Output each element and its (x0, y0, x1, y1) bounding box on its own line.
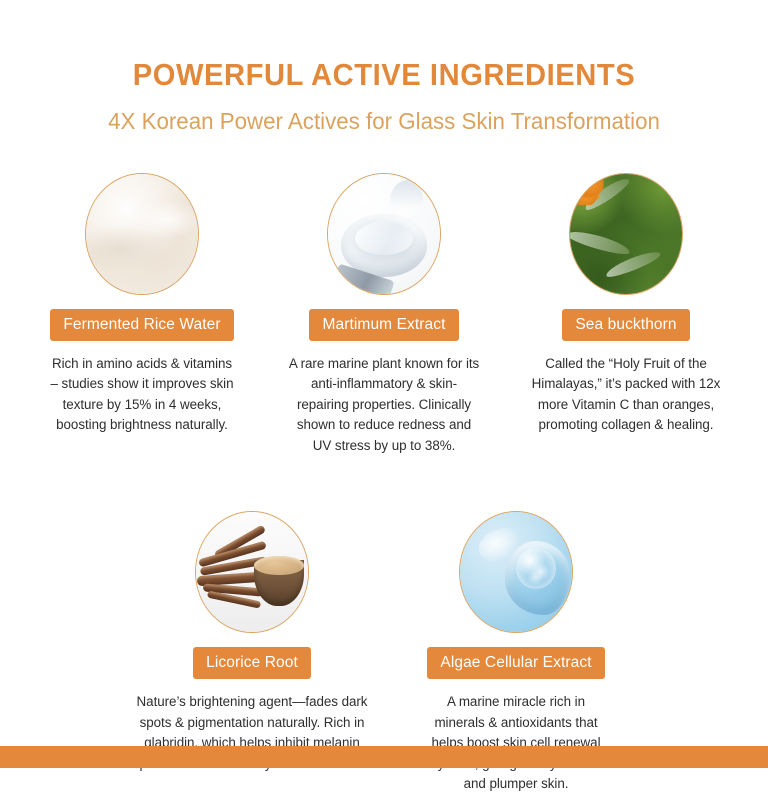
rice-water-texture-icon (86, 174, 198, 294)
leaf-icon (582, 175, 631, 214)
sea-buckthorn-berries-icon (570, 174, 682, 294)
ingredient-description-sea-buckthorn: Called the “Holy Fruit of the Himalayas,… (530, 354, 722, 436)
page-subtitle: 4X Korean Power Actives for Glass Skin T… (12, 108, 757, 134)
footer-accent-bar (0, 746, 768, 768)
leaf-icon (603, 247, 661, 280)
leaf-icon (569, 227, 631, 258)
header: POWERFUL ACTIVE INGREDIENTS 4X Korean Po… (0, 0, 768, 135)
ingredient-badge-fermented-rice-water: Fermented Rice Water (50, 309, 233, 342)
ingredient-image-sea-buckthorn (569, 173, 683, 295)
highlight-icon (474, 521, 527, 567)
ingredient-image-fermented-rice-water (85, 173, 199, 295)
ingredient-badge-sea-buckthorn: Sea buckthorn (562, 309, 689, 342)
gel-serum-icon (328, 174, 440, 294)
infographic-page: POWERFUL ACTIVE INGREDIENTS 4X Korean Po… (0, 0, 768, 768)
ingredient-description-martimum-extract: A rare marine plant known for its anti-i… (286, 354, 482, 456)
ingredient-card-sea-buckthorn: Sea buckthorn Called the “Holy Fruit of … (518, 173, 734, 436)
ingredient-description-fermented-rice-water: Rich in amino acids & vitamins – studies… (47, 354, 237, 436)
ingredient-image-martimum-extract (327, 173, 441, 295)
metal-spatula-icon (333, 263, 394, 294)
ingredient-description-algae-cellular-extract: A marine miracle rich in minerals & anti… (423, 692, 609, 794)
ingredient-image-algae-cellular-extract (459, 511, 573, 633)
ingredient-card-fermented-rice-water: Fermented Rice Water Rich in amino acids… (34, 173, 250, 436)
ingredient-badge-algae-cellular-extract: Algae Cellular Extract (427, 647, 604, 680)
ingredient-badge-licorice-root: Licorice Root (193, 647, 311, 680)
ingredient-card-licorice-root: Licorice Root Nature’s brightening agent… (134, 511, 370, 774)
gel-drip-icon (384, 176, 427, 221)
ingredient-badge-martimum-extract: Martimum Extract (309, 309, 458, 342)
ingredient-image-licorice-root (195, 511, 309, 633)
algae-water-droplet-icon (460, 512, 572, 632)
ingredient-row-top: Fermented Rice Water Rich in amino acids… (0, 173, 768, 456)
licorice-root-icon (196, 512, 308, 632)
ingredient-card-martimum-extract: Martimum Extract A rare marine plant kno… (276, 173, 492, 456)
page-title: POWERFUL ACTIVE INGREDIENTS (23, 58, 745, 92)
